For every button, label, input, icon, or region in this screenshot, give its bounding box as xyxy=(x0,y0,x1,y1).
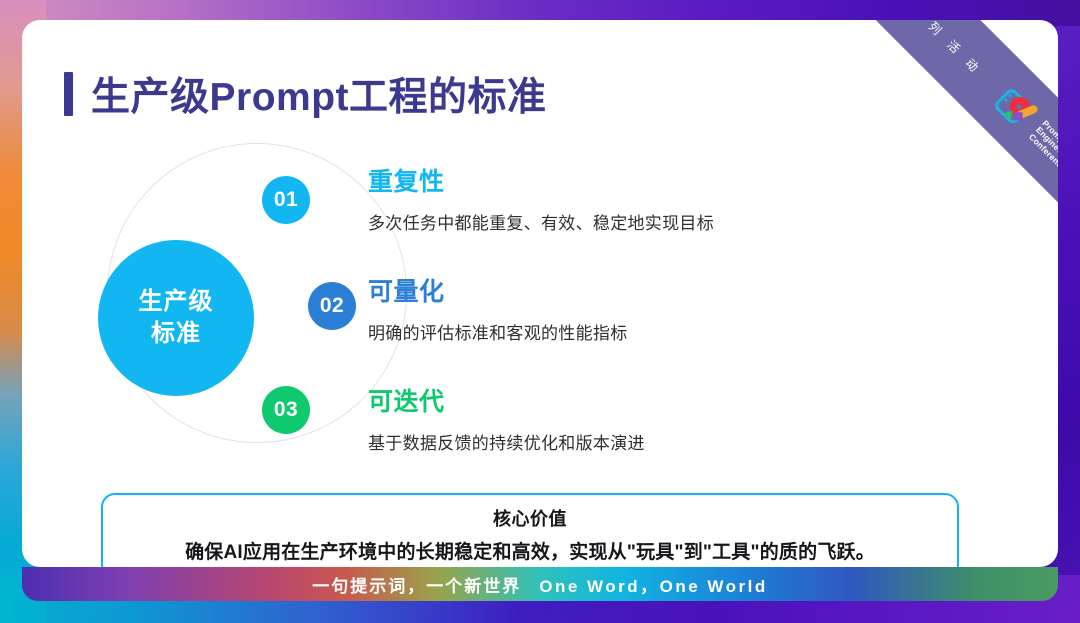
standard-desc-1: 多次任务中都能重复、有效、稳定地实现目标 xyxy=(368,209,1008,234)
step-badge-03-number: 03 xyxy=(274,398,298,422)
core-label-line-2: 标准 xyxy=(151,318,201,350)
callout-title: 核心价值 xyxy=(119,505,941,531)
diagram-core-circle: 生产级 标准 xyxy=(98,240,254,396)
callout-text: 确保AI应用在生产环境中的长期稳定和高效，实现从"玩具"到"工具"的质的飞跃。 xyxy=(119,537,941,564)
list-item: 可迭代 基于数据反馈的持续优化和版本演进 xyxy=(368,382,1008,454)
step-badge-01: 01 xyxy=(262,176,310,224)
step-badge-03: 03 xyxy=(262,386,310,434)
slide-card: 系 列 活 动 Prompt Engineering Conference xyxy=(22,20,1058,567)
footer-slogan-cn: 一句提示词，一个新世界 xyxy=(312,572,521,597)
core-value-callout: 核心价值 确保AI应用在生产环境中的长期稳定和高效，实现从"玩具"到"工具"的质… xyxy=(101,493,959,567)
list-item: 可量化 明确的评估标准和客观的性能指标 xyxy=(368,272,1008,344)
slide-footer: 一句提示词，一个新世界 One Word，One World xyxy=(22,567,1058,601)
standard-title-1: 重复性 xyxy=(368,162,1008,198)
standards-diagram: 生产级 标准 01 02 03 重复性 多次任务中都能重复、有效、稳定地实现目标… xyxy=(22,20,1058,567)
list-item: 重复性 多次任务中都能重复、有效、稳定地实现目标 xyxy=(368,162,1008,234)
step-badge-02: 02 xyxy=(308,282,356,330)
footer-slogan-en: One Word，One World xyxy=(539,572,768,597)
standard-desc-3: 基于数据反馈的持续优化和版本演进 xyxy=(368,429,1008,454)
standards-list: 重复性 多次任务中都能重复、有效、稳定地实现目标 可量化 明确的评估标准和客观的… xyxy=(368,162,1008,492)
standard-desc-2: 明确的评估标准和客观的性能指标 xyxy=(368,319,1008,344)
standard-title-2: 可量化 xyxy=(368,272,1008,308)
slide-root: 系 列 活 动 Prompt Engineering Conference xyxy=(0,0,1080,623)
standard-title-3: 可迭代 xyxy=(368,382,1008,418)
step-badge-01-number: 01 xyxy=(274,188,298,212)
step-badge-02-number: 02 xyxy=(320,294,344,318)
core-label-line-1: 生产级 xyxy=(139,286,214,318)
